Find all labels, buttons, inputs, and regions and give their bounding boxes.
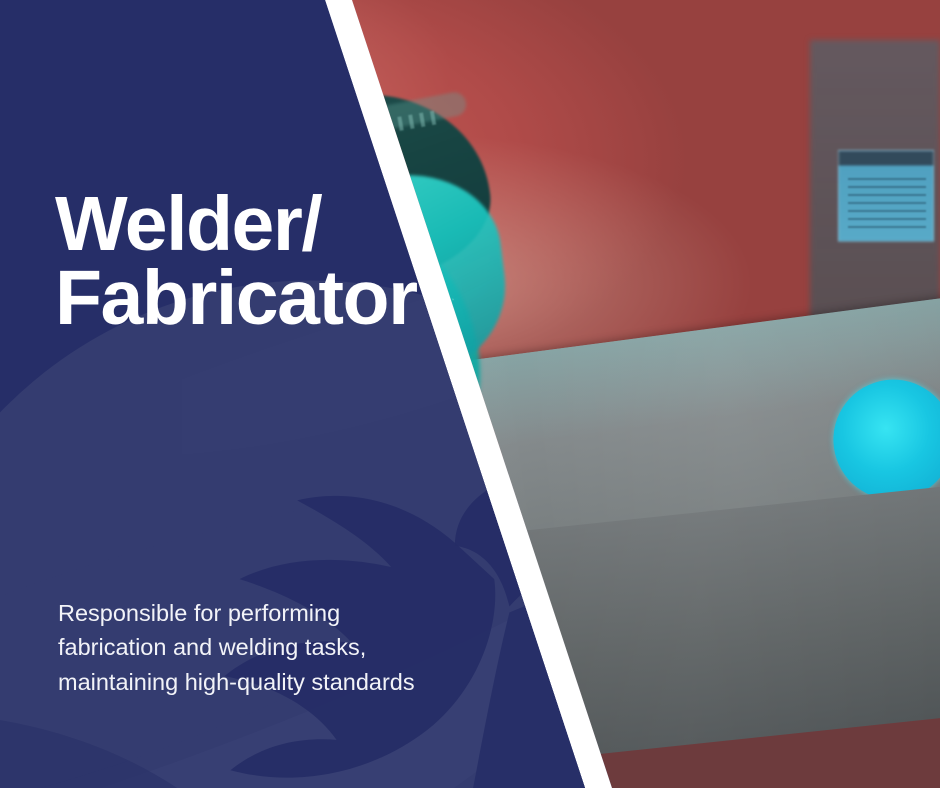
wall-sign-text — [848, 178, 926, 232]
job-role-card: Welder/ Fabricator Responsible for perfo… — [0, 0, 940, 788]
page-title: Welder/ Fabricator — [55, 188, 417, 336]
role-description: Responsible for performing fabrication a… — [58, 596, 428, 699]
